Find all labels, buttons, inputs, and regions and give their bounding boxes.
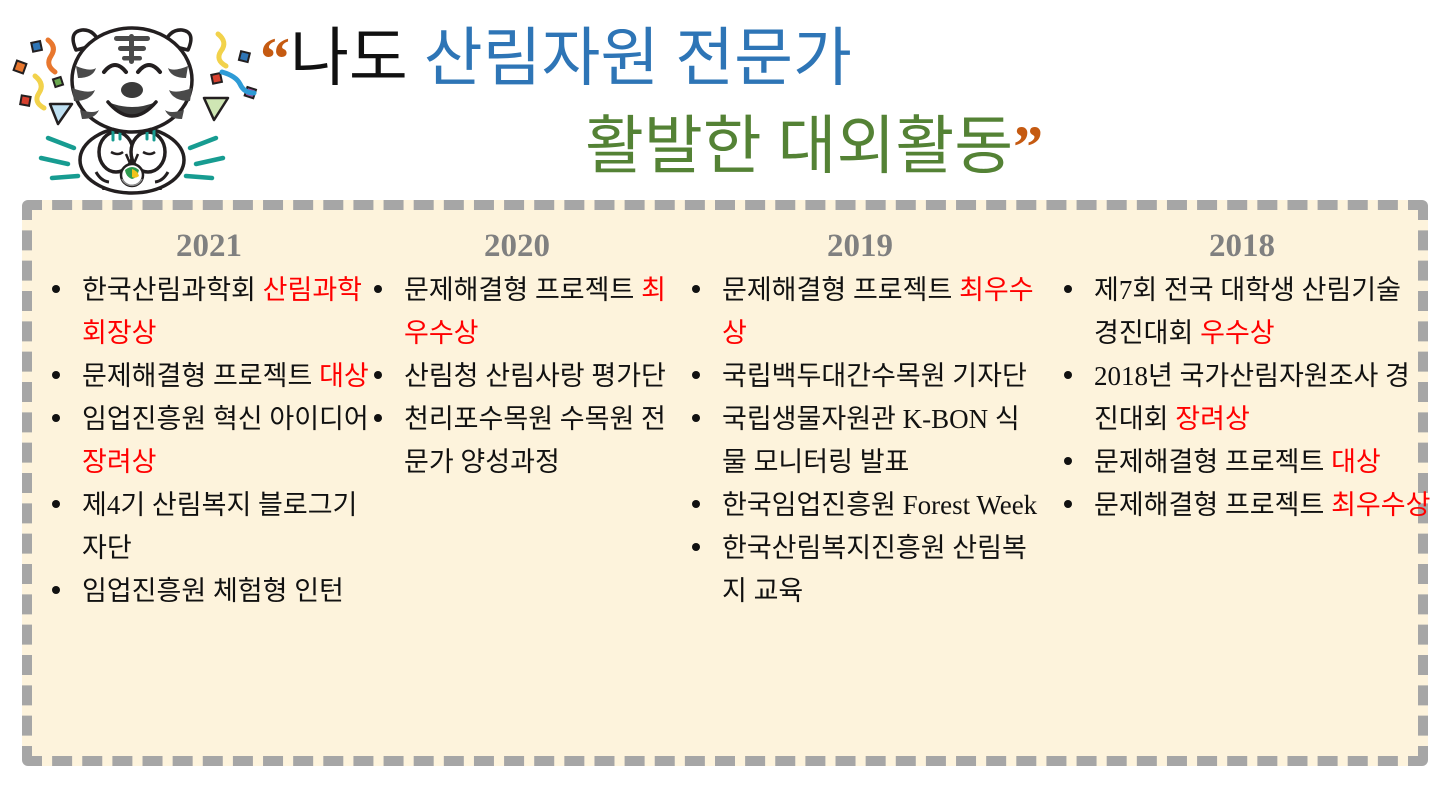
item-text: 문제해결형 프로젝트 — [722, 275, 959, 305]
bullet-icon — [692, 500, 700, 508]
list-item: 한국산림복지진흥원 산림복지 교육 — [680, 527, 1040, 613]
bullet-icon — [52, 500, 60, 508]
bullet-icon — [374, 371, 382, 379]
list-item: 문제해결형 프로젝트 최우수상 — [680, 269, 1040, 355]
list-item: 문제해결형 프로젝트 대상 — [40, 355, 370, 398]
list-item: 문제해결형 프로젝트 최우수상 — [1052, 484, 1432, 527]
bullet-icon — [692, 371, 700, 379]
item-text: 문제해결형 프로젝트 — [1094, 447, 1331, 477]
list-item: 임업진흥원 체험형 인턴 — [40, 570, 370, 613]
item-text: 임업진흥원 체험형 인턴 — [82, 576, 344, 606]
item-text: 임업진흥원 혁신 아이디어 — [82, 404, 369, 434]
list-item: 제7회 전국 대학생 산림기술 경진대회 우수상 — [1052, 269, 1432, 355]
bullet-icon — [52, 285, 60, 293]
bullet-icon — [1064, 457, 1072, 465]
open-quote: “ — [260, 26, 290, 92]
bullet-icon — [692, 285, 700, 293]
list-item: 한국임업진흥원 Forest Week — [680, 484, 1040, 527]
year-column-2020: 2020 문제해결형 프로젝트 최우수상 산림청 산림사랑 평가단 천리포수목원… — [362, 210, 672, 484]
year-column-2021: 2021 한국산림과학회 산림과학회장상 문제해결형 프로젝트 대상 임업진흥원… — [40, 210, 370, 613]
bullet-icon — [1064, 500, 1072, 508]
list-item: 한국산림과학회 산림과학회장상 — [40, 269, 370, 355]
list-item: 문제해결형 프로젝트 최우수상 — [362, 269, 672, 355]
activity-list-2019: 문제해결형 프로젝트 최우수상 국립백두대간수목원 기자단 국립생물자원관 K-… — [680, 269, 1040, 613]
year-column-2019: 2019 문제해결형 프로젝트 최우수상 국립백두대간수목원 기자단 국립생물자… — [680, 210, 1040, 613]
item-text: 문제해결형 프로젝트 — [82, 361, 319, 391]
poster-root: “나도 산림자원 전문가 활발한 대외활동” 2021 한국산림과학회 산림과학… — [0, 0, 1438, 785]
bullet-icon — [52, 414, 60, 422]
activity-list-2018: 제7회 전국 대학생 산림기술 경진대회 우수상 2018년 국가산림자원조사 … — [1052, 269, 1432, 527]
item-text: 제4기 산림복지 블로그기자단 — [82, 490, 357, 563]
year-heading: 2021 — [40, 210, 370, 269]
list-item: 임업진흥원 혁신 아이디어 장려상 — [40, 398, 370, 484]
white-tiger-mascot — [8, 12, 258, 202]
tiger-body — [80, 127, 184, 193]
list-item: 제4기 산림복지 블로그기자단 — [40, 484, 370, 570]
year-heading: 2019 — [680, 210, 1040, 269]
activity-list-2020: 문제해결형 프로젝트 최우수상 산림청 산림사랑 평가단 천리포수목원 수목원 … — [362, 269, 672, 484]
activities-panel: 2021 한국산림과학회 산림과학회장상 문제해결형 프로젝트 대상 임업진흥원… — [22, 200, 1428, 766]
title-text-blue: 산림자원 전문가 — [424, 23, 852, 94]
tiger-head — [72, 28, 192, 132]
bullet-icon — [692, 414, 700, 422]
award-text: 대상 — [1331, 447, 1381, 477]
year-column-2018: 2018 제7회 전국 대학생 산림기술 경진대회 우수상 2018년 국가산림… — [1052, 210, 1432, 527]
bullet-icon — [374, 414, 382, 422]
title-text-green: 활발한 대외활동 — [585, 111, 1013, 182]
activities-columns: 2021 한국산림과학회 산림과학회장상 문제해결형 프로젝트 대상 임업진흥원… — [32, 210, 1438, 776]
item-text: 2018년 국가산림자원조사 경진대회 — [1094, 361, 1410, 434]
item-text: 문제해결형 프로젝트 — [404, 275, 641, 305]
award-text: 최우수상 — [1331, 490, 1430, 520]
bullet-icon — [374, 285, 382, 293]
list-item: 문제해결형 프로젝트 대상 — [1052, 441, 1432, 484]
confetti-right — [204, 34, 256, 120]
item-text: 한국임업진흥원 Forest Week — [722, 490, 1037, 520]
title-line-1: “나도 산림자원 전문가 — [260, 16, 852, 102]
item-text: 천리포수목원 수목원 전문가 양성과정 — [404, 404, 666, 477]
title-text-black: 나도 — [290, 23, 408, 94]
bullet-icon — [52, 371, 60, 379]
bullet-icon — [1064, 285, 1072, 293]
bullet-icon — [692, 543, 700, 551]
item-text: 국립백두대간수목원 기자단 — [722, 361, 1027, 391]
close-quote: ” — [1013, 114, 1043, 180]
list-item: 국립백두대간수목원 기자단 — [680, 355, 1040, 398]
list-item: 2018년 국가산림자원조사 경진대회 장려상 — [1052, 355, 1432, 441]
list-item: 산림청 산림사랑 평가단 — [362, 355, 672, 398]
year-heading: 2020 — [362, 210, 672, 269]
item-text: 문제해결형 프로젝트 — [1094, 490, 1331, 520]
title-line-2: 활발한 대외활동” — [585, 104, 1043, 190]
bullet-icon — [1064, 371, 1072, 379]
item-text: 한국산림복지진흥원 산림복지 교육 — [722, 533, 1027, 606]
activity-list-2021: 한국산림과학회 산림과학회장상 문제해결형 프로젝트 대상 임업진흥원 혁신 아… — [40, 269, 370, 613]
confetti-left — [14, 40, 72, 124]
item-text: 한국산림과학회 — [82, 275, 263, 305]
list-item: 천리포수목원 수목원 전문가 양성과정 — [362, 398, 672, 484]
award-text: 장려상 — [82, 447, 157, 477]
award-text: 우수상 — [1200, 318, 1275, 348]
bullet-icon — [52, 586, 60, 594]
item-text: 국립생물자원관 K-BON 식물 모니터링 발표 — [722, 404, 1020, 477]
poster-title: “나도 산림자원 전문가 활발한 대외활동” — [250, 8, 1200, 198]
item-text: 산림청 산림사랑 평가단 — [404, 361, 666, 391]
list-item: 국립생물자원관 K-BON 식물 모니터링 발표 — [680, 398, 1040, 484]
year-heading: 2018 — [1052, 210, 1432, 269]
award-text: 장려상 — [1175, 404, 1250, 434]
